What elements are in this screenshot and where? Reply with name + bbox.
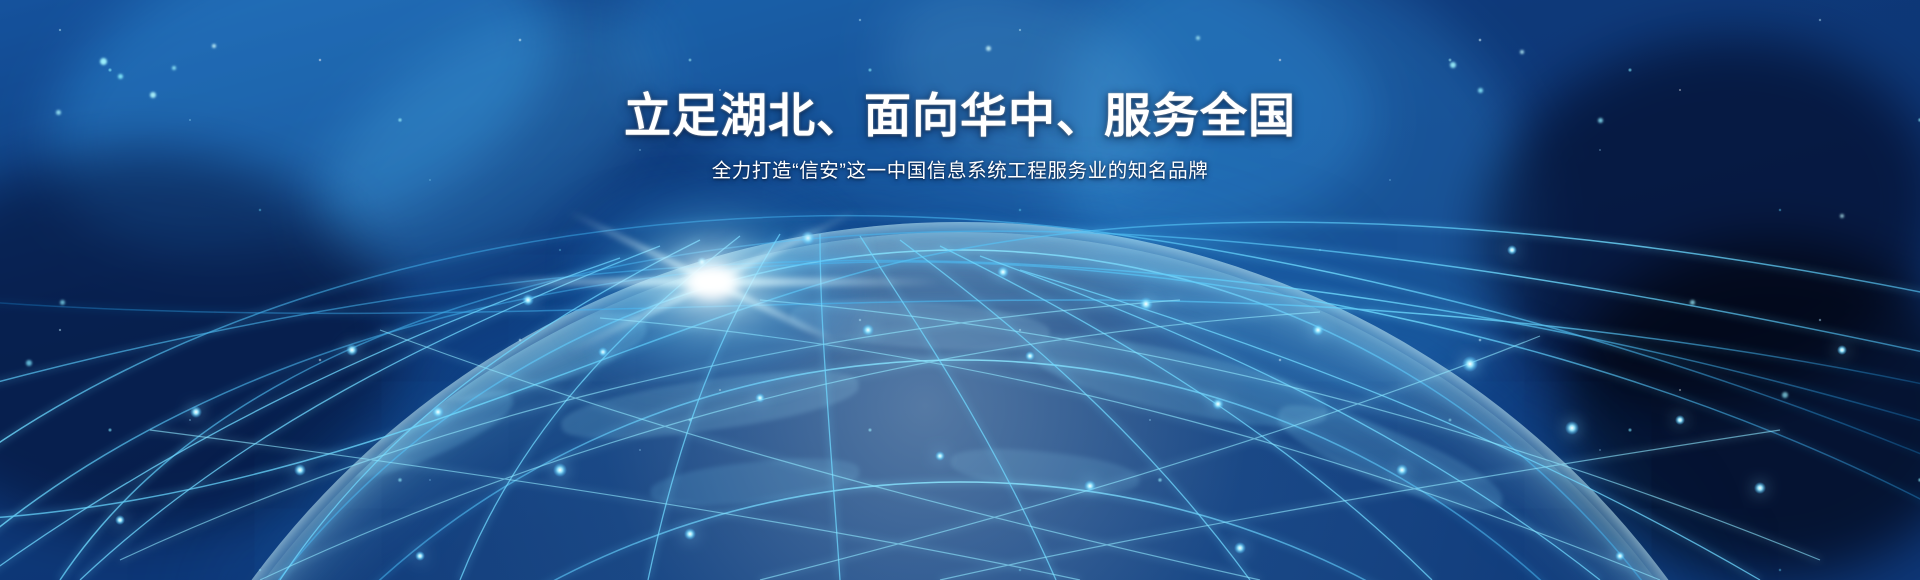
star-cluster — [1840, 214, 1844, 218]
star-cluster — [1782, 392, 1788, 398]
star-cluster — [60, 300, 65, 305]
hero-banner: 立足湖北、面向华中、服务全国 全力打造“信安”这一中国信息系统工程服务业的知名品… — [0, 0, 1920, 580]
star-cluster — [26, 360, 32, 366]
banner-headline: 立足湖北、面向华中、服务全国 — [0, 0, 1920, 143]
banner-subheadline: 全力打造“信安”这一中国信息系统工程服务业的知名品牌 — [0, 143, 1920, 186]
banner-copy: 立足湖北、面向华中、服务全国 全力打造“信安”这一中国信息系统工程服务业的知名品… — [0, 0, 1920, 187]
star-cluster — [1690, 300, 1695, 305]
